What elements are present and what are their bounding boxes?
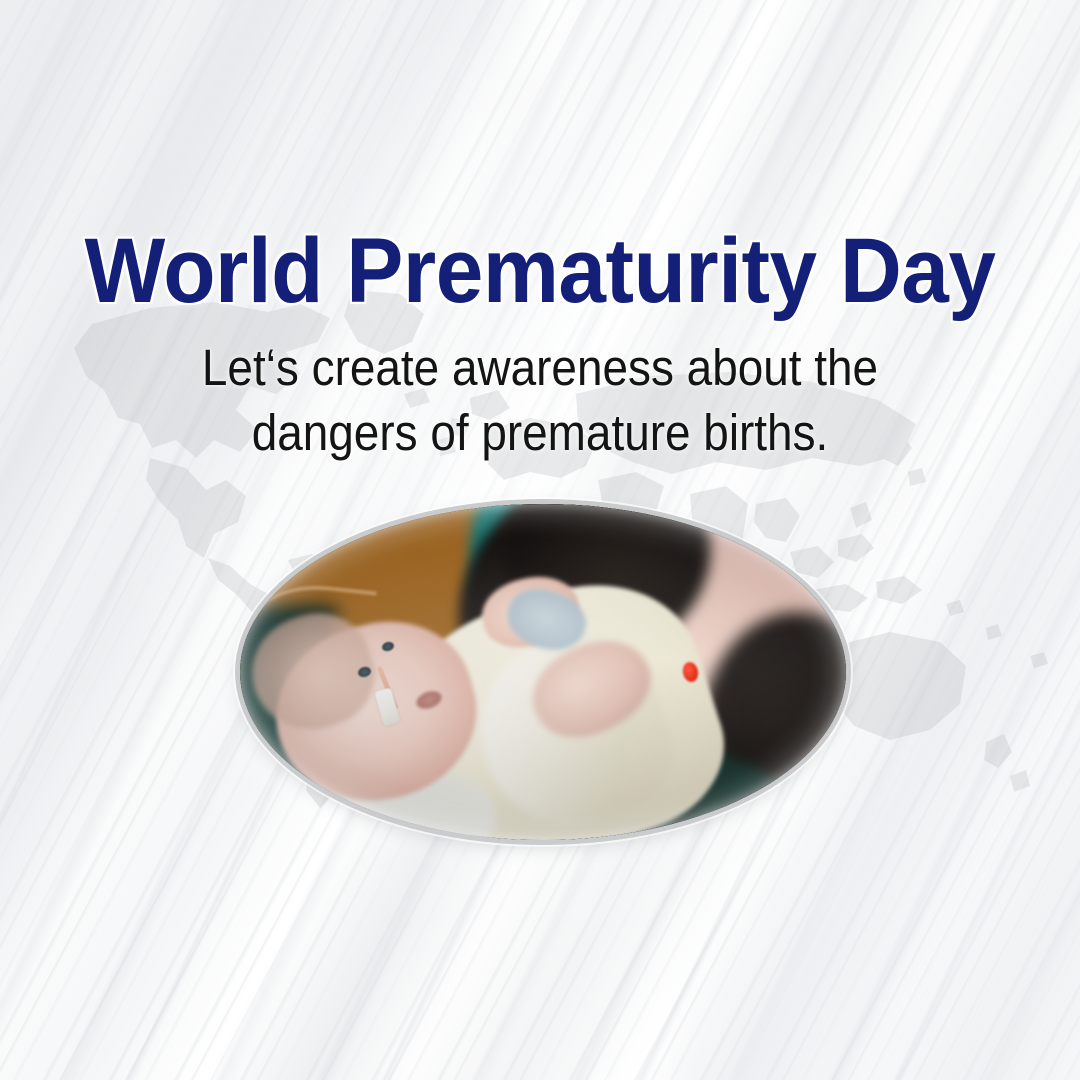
oval-photo-frame <box>240 504 846 840</box>
subtitle-line-1: Let‘s create awareness about the <box>54 335 1026 400</box>
page-subtitle: Let‘s create awareness about the dangers… <box>54 335 1026 466</box>
photo-mother-and-premature-baby <box>240 504 846 840</box>
subtitle-line-2: dangers of premature births. <box>54 400 1026 465</box>
headline-block: World Prematurity Day Let‘s create aware… <box>0 225 1080 466</box>
world-prematurity-day-poster: World Prematurity Day Let‘s create aware… <box>0 0 1080 1080</box>
page-title: World Prematurity Day <box>38 225 1042 317</box>
